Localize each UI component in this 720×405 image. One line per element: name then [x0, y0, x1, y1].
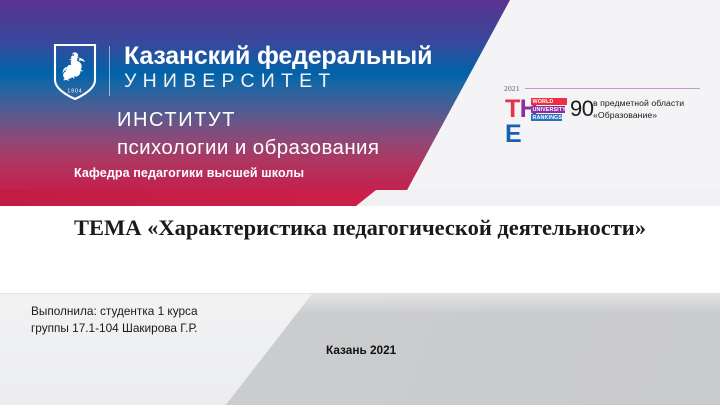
shield-year-label: 1804	[67, 89, 82, 95]
the-stripe-university: UNIVERSITY	[531, 106, 565, 113]
author-line2: группы 17.1-104 Шакирова Г.Р.	[31, 320, 198, 337]
slide-footer: Выполнила: студентка 1 курса группы 17.1…	[0, 293, 720, 405]
the-logo-stripes: WORLD UNIVERSITY RANKINGS	[531, 98, 567, 122]
ranking-year: 2021	[504, 84, 520, 93]
slide-header: 1804 Казанский федеральный УНИВЕРСИТЕТ И…	[0, 0, 720, 192]
the-stripe-rankings: RANKINGS	[531, 114, 562, 121]
city-year-label: Казань 2021	[326, 343, 396, 357]
the-letter-e: E	[505, 122, 521, 147]
ranking-year-rule	[525, 88, 700, 89]
title-band: ТЕМА «Характеристика педагогической деят…	[0, 206, 720, 293]
institute-subtitle: психологии и образования	[117, 136, 379, 160]
logo-divider	[109, 46, 110, 96]
author-line1: Выполнила: студентка 1 курса	[31, 303, 198, 320]
department-name: Кафедра педагогики высшей школы	[74, 166, 304, 181]
ranking-description-line2: «Образование»	[593, 110, 684, 122]
the-ranking-badge: 2021 THE WORLD UNIVERSITY RANKINGS	[504, 84, 704, 132]
the-stripe-world-label: WORLD	[533, 99, 554, 105]
ranking-year-row: 2021	[504, 84, 700, 93]
the-stripe-world: WORLD	[531, 98, 567, 105]
presentation-slide: 1804 Казанский федеральный УНИВЕРСИТЕТ И…	[0, 0, 720, 405]
accent-bar-fill	[0, 190, 720, 206]
ranking-position: 90	[570, 97, 593, 121]
page-title: ТЕМА «Характеристика педагогической деят…	[0, 215, 720, 241]
the-stripe-university-label: UNIVERSITY	[533, 107, 566, 113]
ranking-description-line1: в предметной области	[593, 98, 684, 110]
university-name-line1: Казанский федеральный	[124, 42, 432, 70]
author-block: Выполнила: студентка 1 курса группы 17.1…	[31, 303, 198, 336]
ranking-description: в предметной области «Образование»	[593, 98, 684, 121]
university-name-line2: УНИВЕРСИТЕТ	[124, 70, 432, 93]
the-stripe-rankings-label: RANKINGS	[533, 115, 563, 121]
institute-name: ИНСТИТУТ	[117, 108, 236, 132]
university-name: Казанский федеральный УНИВЕРСИТЕТ	[124, 42, 432, 93]
accent-bar	[0, 190, 720, 206]
the-logo-icon: THE WORLD UNIVERSITY RANKINGS	[505, 97, 567, 122]
the-letter-t: T	[505, 97, 520, 122]
zilant-dragon-shield-icon: 1804	[53, 44, 97, 100]
university-logo-lockup: 1804 Казанский федеральный УНИВЕРСИТЕТ	[53, 44, 432, 100]
